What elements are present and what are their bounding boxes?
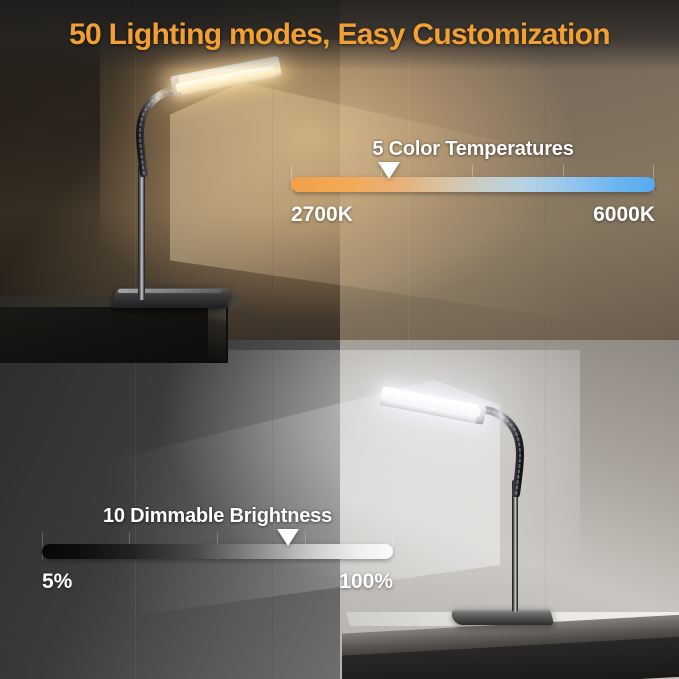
brightness-max-label: 100% xyxy=(339,570,393,594)
color-temperature-title: 5 Color Temperatures xyxy=(291,138,655,161)
color-temperature-track-wrap[interactable] xyxy=(291,171,655,197)
color-temperature-max-label: 6000K xyxy=(593,203,655,227)
lamp-clamp-base-bottom xyxy=(450,608,554,625)
color-temperature-track[interactable] xyxy=(291,177,655,192)
brightness-track[interactable] xyxy=(42,544,393,559)
color-temperature-min-label: 2700K xyxy=(291,203,353,227)
brightness-endlabels: 5% 100% xyxy=(42,570,393,596)
brightness-widget: 10 Dimmable Brightness 5% 100% xyxy=(42,505,393,596)
product-feature-image: 5 Color Temperatures 2700K 6000K 10 Dimm… xyxy=(0,0,679,679)
page-title: 50 Lighting modes, Easy Customization xyxy=(0,18,679,52)
brightness-title: 10 Dimmable Brightness xyxy=(42,505,393,528)
color-temperature-marker[interactable] xyxy=(378,162,400,179)
lamp-clamp-highlight-top xyxy=(118,289,223,293)
brightness-track-wrap[interactable] xyxy=(42,538,393,564)
color-temperature-widget: 5 Color Temperatures 2700K 6000K xyxy=(291,138,655,229)
color-temperature-endlabels: 2700K 6000K xyxy=(291,203,655,229)
brightness-marker[interactable] xyxy=(277,529,299,546)
brightness-min-label: 5% xyxy=(42,570,72,594)
